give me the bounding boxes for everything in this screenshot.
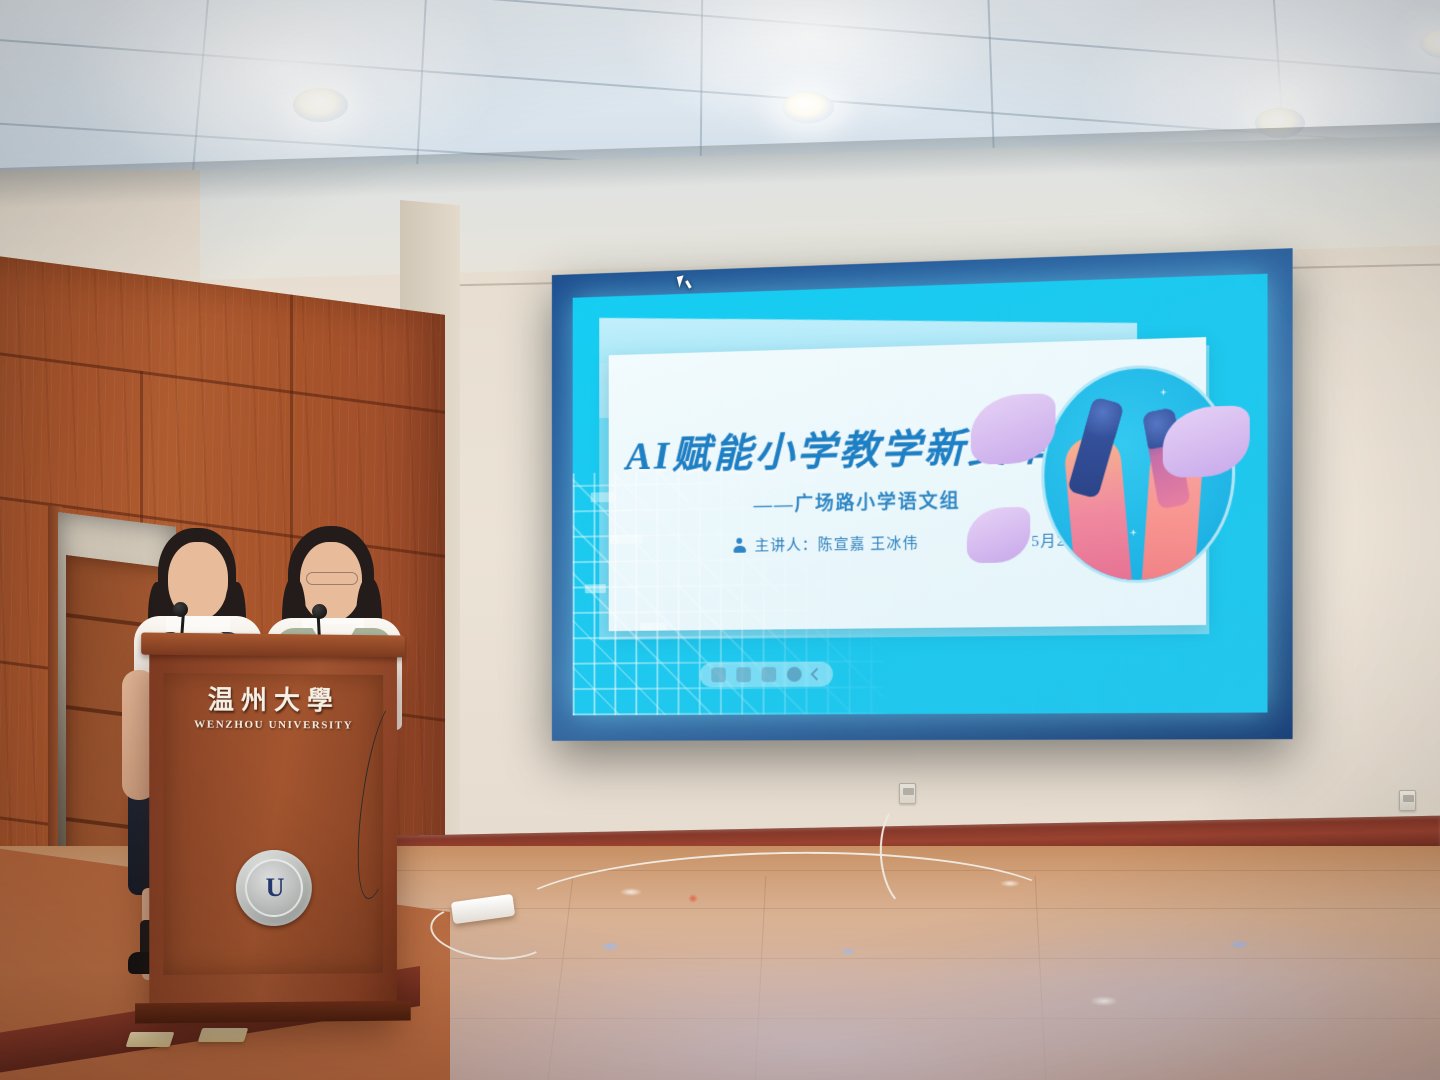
- pen-icon[interactable]: [711, 668, 725, 683]
- ceiling-downlight: [782, 92, 834, 123]
- podium-nameplate: 温州大學 WENZHOU UNIVERSITY: [163, 679, 383, 732]
- emoji-icon[interactable]: [787, 667, 802, 682]
- presentation-slide: AI赋能小学教学新变革 ——广场路小学语文组 主讲人：陈宣嘉 王冰伟 时间：5月…: [573, 274, 1268, 716]
- presentation-toolbar[interactable]: [699, 662, 832, 688]
- wall-outlet-right[interactable]: [1399, 790, 1416, 811]
- podium-name-en: WENZHOU UNIVERSITY: [163, 718, 383, 731]
- projection-screen-frame: AI赋能小学教学新变革 ——广场路小学语文组 主讲人：陈宣嘉 王冰伟 时间：5月…: [552, 248, 1293, 741]
- ceiling-mark: [0, 0, 4, 15]
- screen-icon[interactable]: [761, 667, 776, 682]
- podium-name-cn: 温州大學: [163, 679, 383, 718]
- mic-head-icon: [173, 602, 188, 617]
- ceiling-downlight: [293, 88, 348, 122]
- list-item[interactable]: [198, 1028, 249, 1042]
- chevron-left-icon[interactable]: [810, 668, 822, 681]
- emblem-letter: U: [266, 873, 283, 903]
- podium-top: [141, 632, 405, 657]
- pointer-icon[interactable]: [736, 667, 751, 682]
- university-emblem: U: [236, 850, 312, 926]
- podium-base: [135, 1001, 411, 1024]
- lecture-hall-photo: ρ: [0, 0, 1440, 1080]
- glasses-icon: [306, 572, 358, 585]
- person-icon: [733, 538, 746, 553]
- podium-front-panel: 温州大學 WENZHOU UNIVERSITY U: [163, 673, 383, 975]
- projection-screen[interactable]: AI赋能小学教学新变革 ——广场路小学语文组 主讲人：陈宣嘉 王冰伟 时间：5月…: [573, 274, 1268, 716]
- mic-head-icon: [312, 604, 327, 619]
- slide-presenter-label: 主讲人：陈宣嘉 王冰伟: [755, 532, 919, 556]
- list-item[interactable]: [126, 1032, 175, 1047]
